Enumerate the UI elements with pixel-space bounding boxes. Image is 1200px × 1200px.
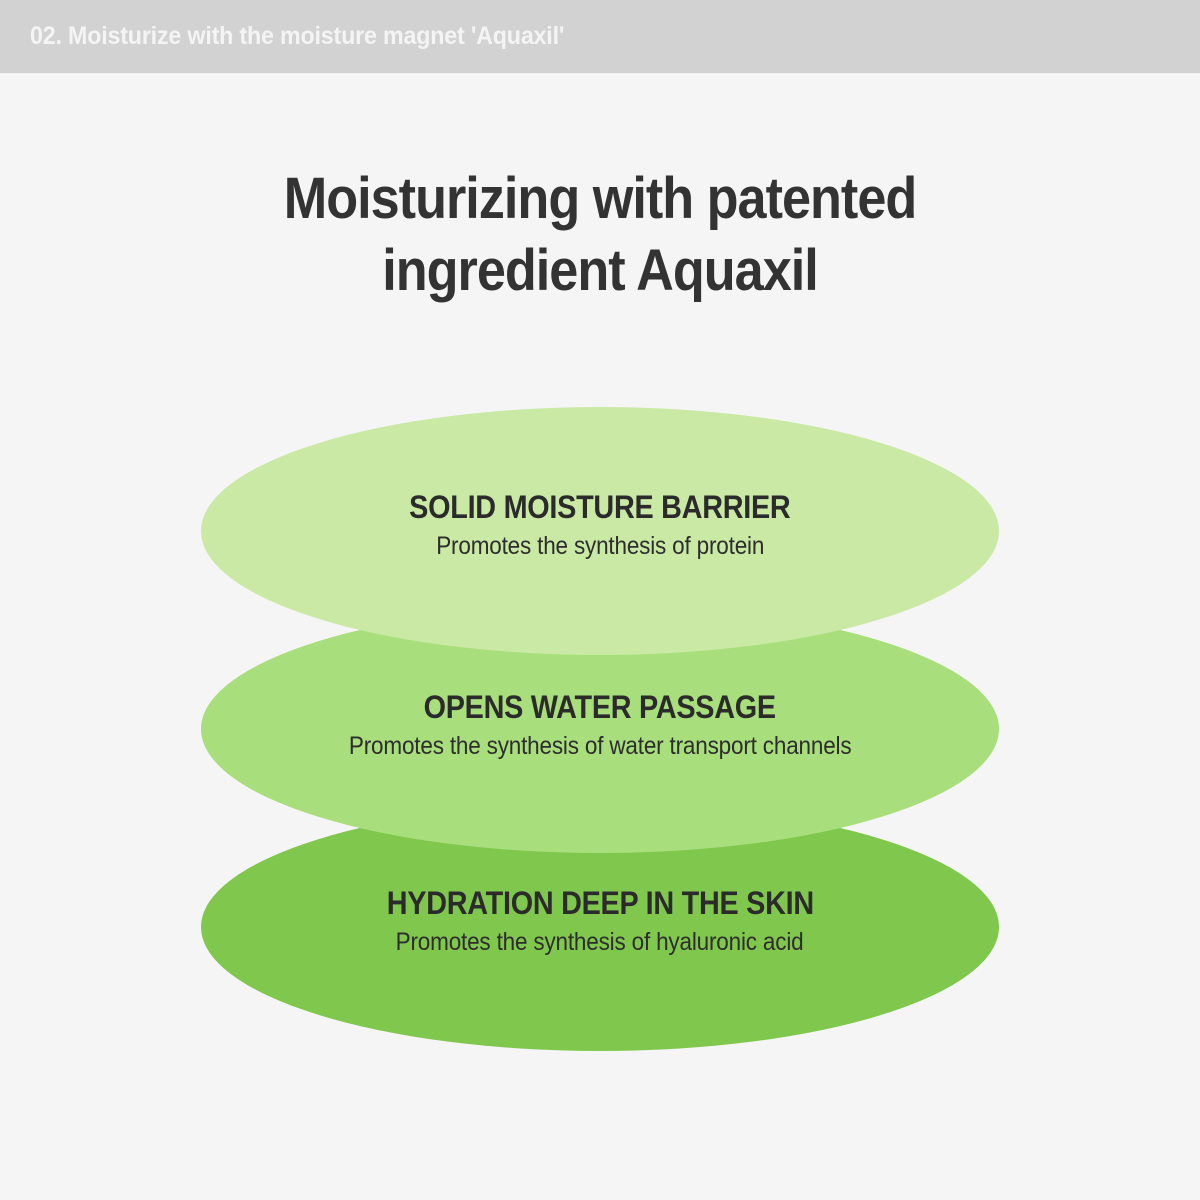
stacked-ellipse-diagram: SOLID MOISTURE BARRIER Promotes the synt… xyxy=(0,0,1200,1200)
layer-title: SOLID MOISTURE BARRIER xyxy=(409,487,790,527)
layer-text-block: SOLID MOISTURE BARRIER Promotes the synt… xyxy=(388,487,812,563)
layer-text-block: OPENS WATER PASSAGE Promotes the synthes… xyxy=(321,687,879,763)
diagram-layer-solid-moisture-barrier: SOLID MOISTURE BARRIER Promotes the synt… xyxy=(201,407,999,655)
layer-text-block: HYDRATION DEEP IN THE SKIN Promotes the … xyxy=(363,883,838,959)
layer-subtitle: Promotes the synthesis of protein xyxy=(436,529,764,563)
layer-title: OPENS WATER PASSAGE xyxy=(424,687,776,727)
layer-subtitle: Promotes the synthesis of water transpor… xyxy=(349,729,852,763)
page-root: 02. Moisturize with the moisture magnet … xyxy=(0,0,1200,1200)
layer-subtitle: Promotes the synthesis of hyaluronic aci… xyxy=(396,925,804,959)
layer-title: HYDRATION DEEP IN THE SKIN xyxy=(386,883,813,923)
